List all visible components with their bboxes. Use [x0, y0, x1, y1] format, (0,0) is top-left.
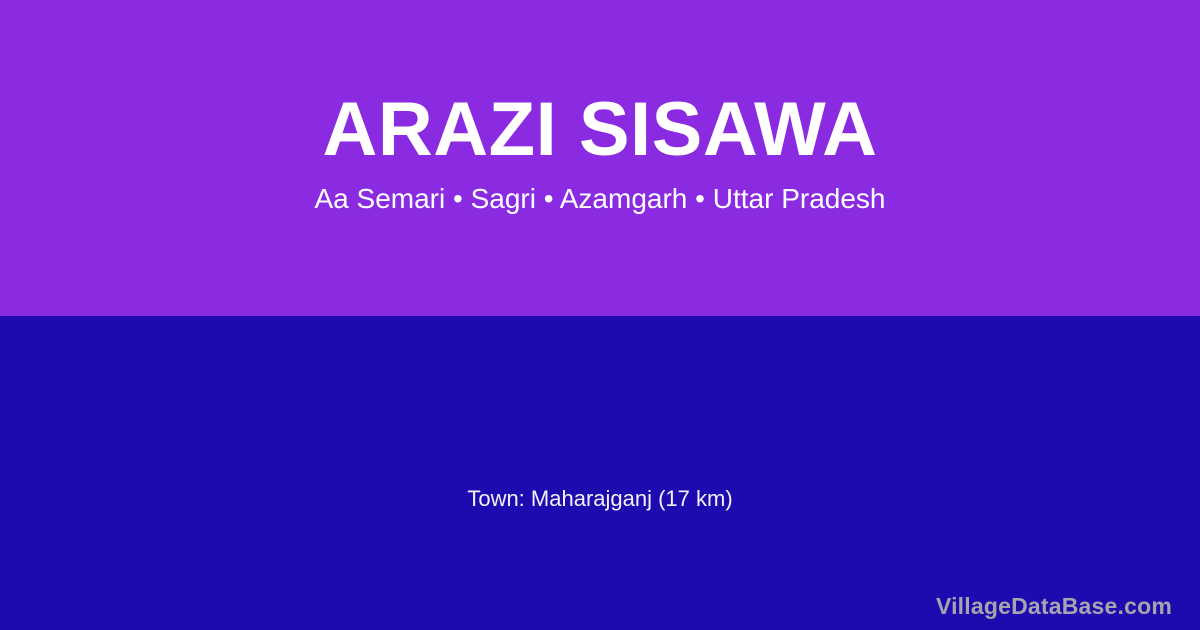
page-title: ARAZI SISAWA [0, 92, 1200, 168]
breadcrumb: Aa Semari • Sagri • Azamgarh • Uttar Pra… [0, 185, 1200, 213]
details-panel: Town: Maharajganj (17 km) [0, 316, 1200, 630]
site-watermark: VillageDataBase.com [936, 595, 1172, 618]
village-info-card: ARAZI SISAWA Aa Semari • Sagri • Azamgar… [0, 0, 1200, 630]
hero-banner: ARAZI SISAWA Aa Semari • Sagri • Azamgar… [0, 0, 1200, 316]
nearest-town-stat: Town: Maharajganj (17 km) [0, 488, 1200, 510]
